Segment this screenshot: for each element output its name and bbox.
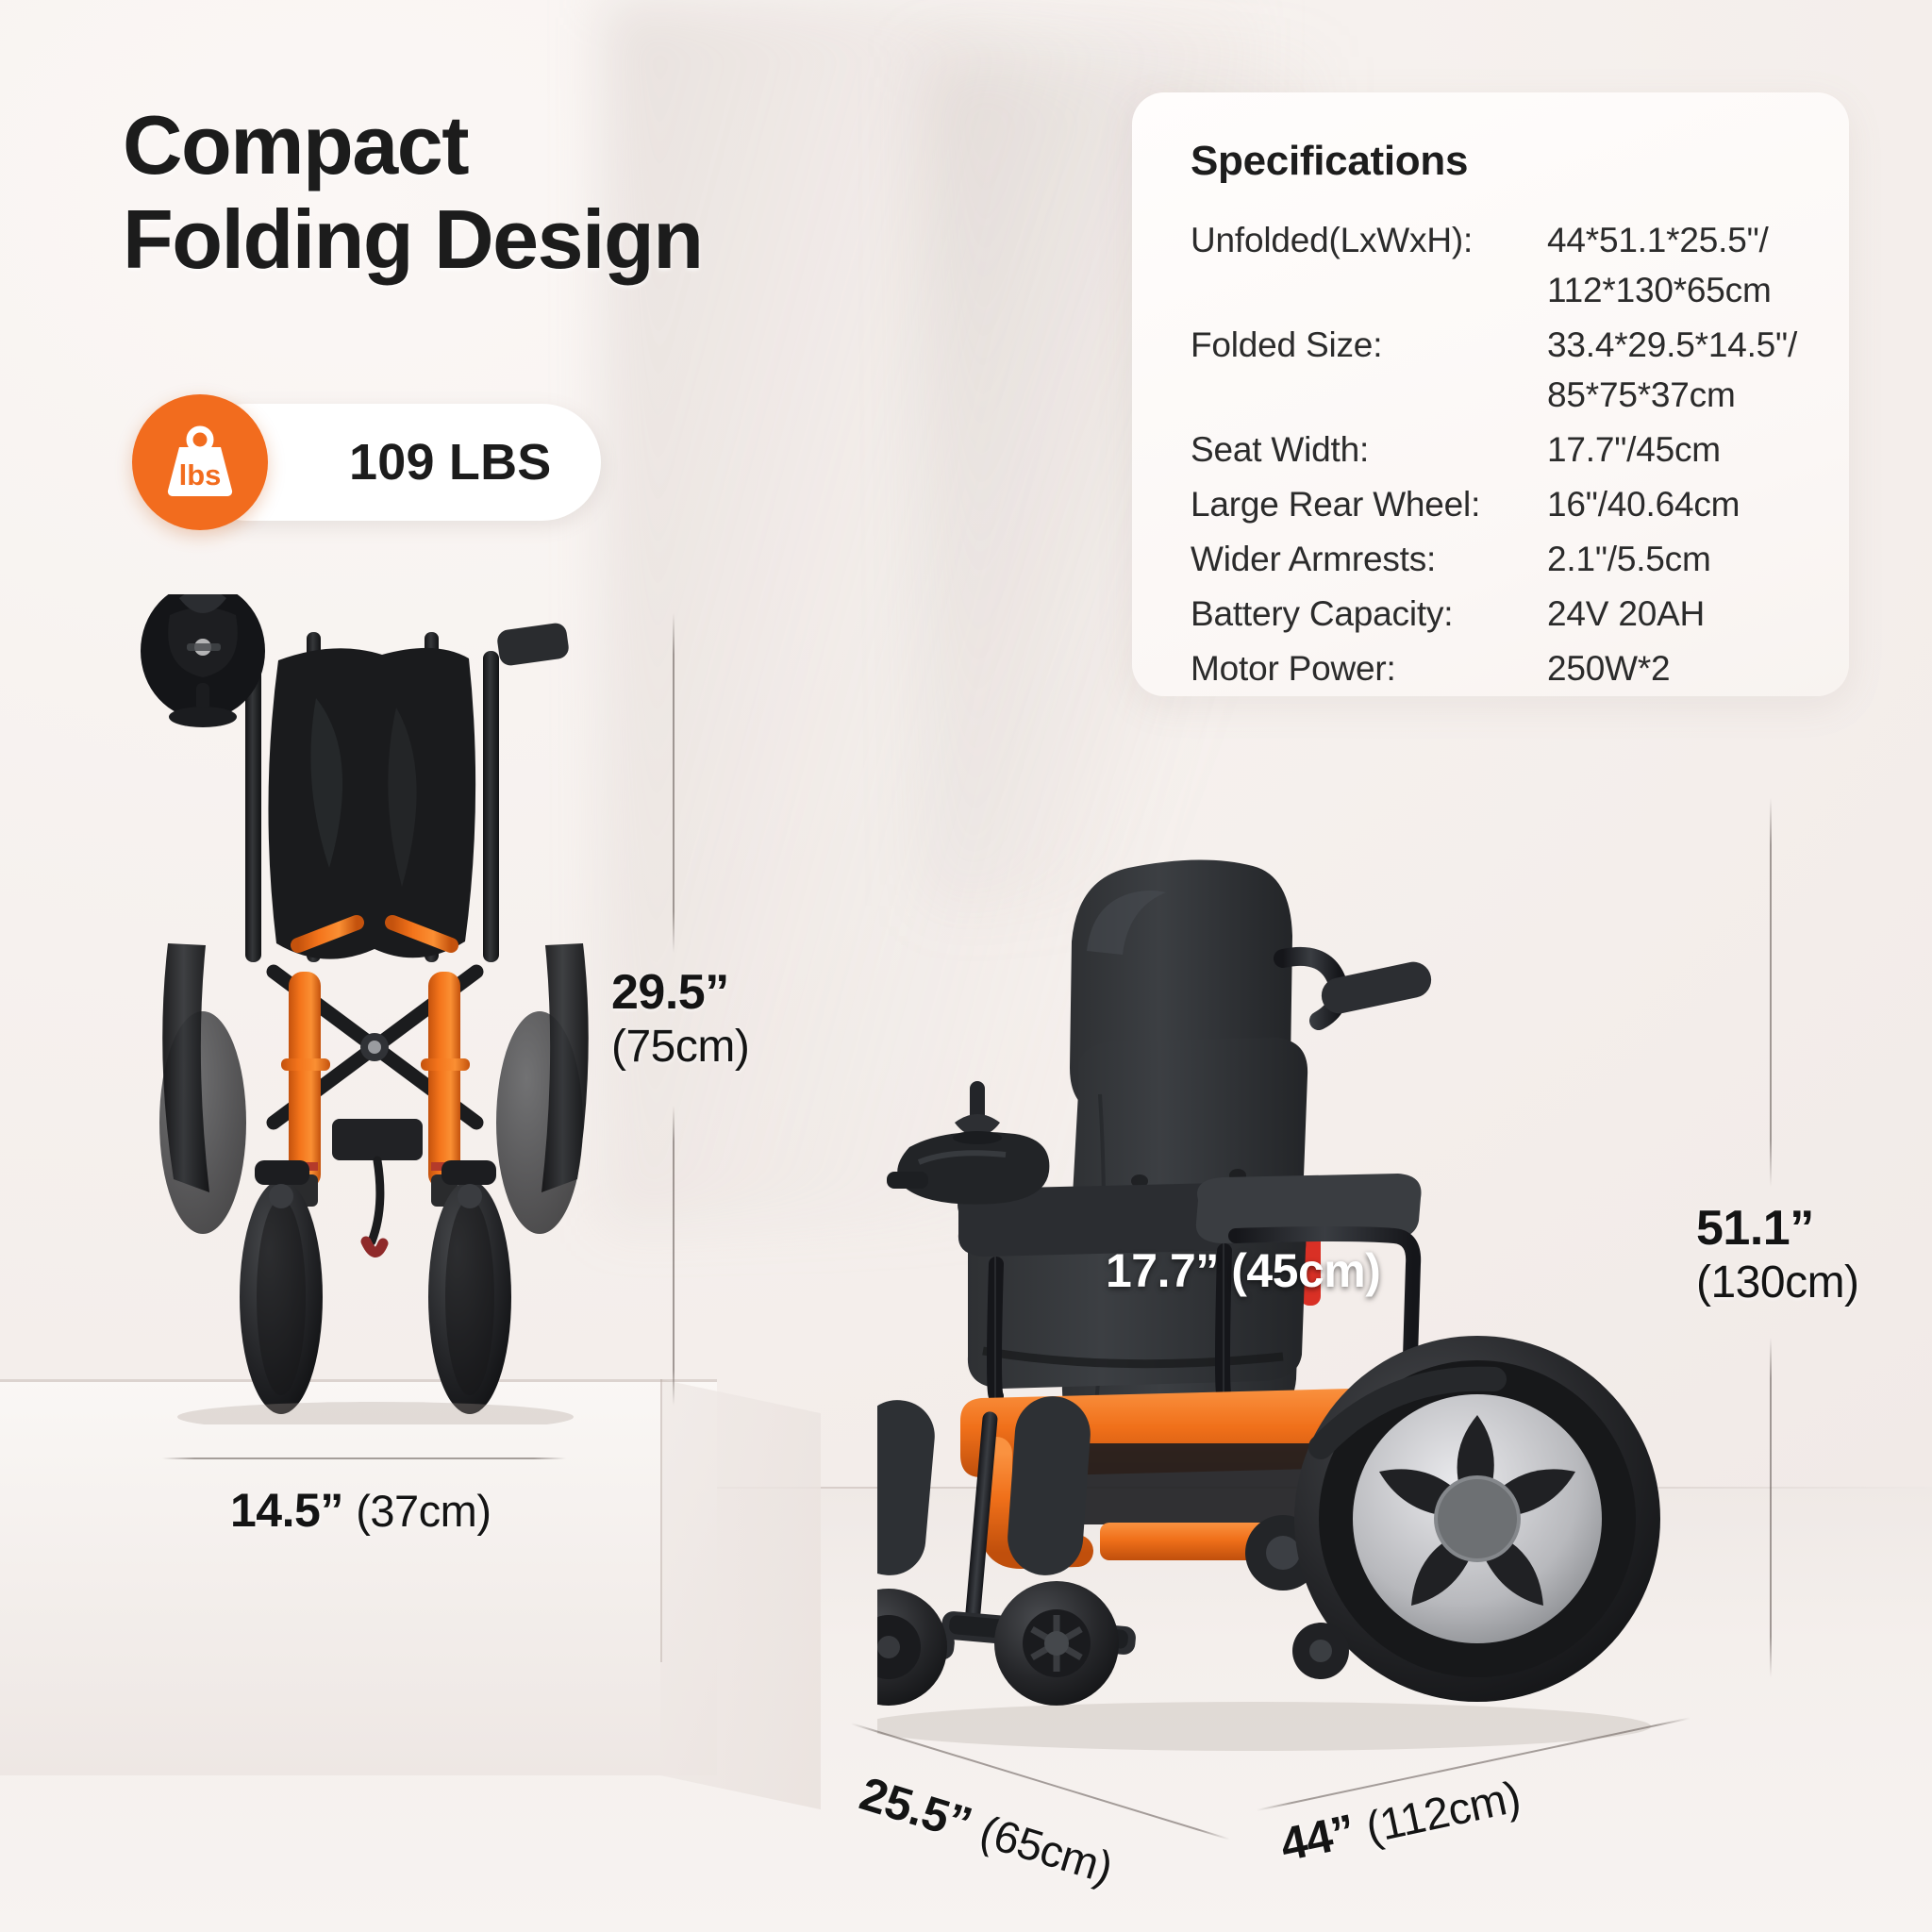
spec-value: 17.7"/45cm [1547, 425, 1721, 475]
folded-electric-wheelchair [113, 594, 641, 1424]
spec-value: 44*51.1*25.5"/ 112*130*65cm [1547, 215, 1772, 315]
spec-label: Folded Size: [1191, 320, 1547, 370]
dim-line-folded-height-top [673, 613, 675, 953]
spec-row: Wider Armrests: 2.1"/5.5cm [1191, 534, 1817, 584]
joystick-controller-icon [887, 1081, 1049, 1205]
spec-label: Battery Capacity: [1191, 589, 1547, 639]
dim-unfolded-height-inch: 51.1” [1696, 1200, 1859, 1257]
dim-line-unfolded-height-bottom [1770, 1338, 1772, 1677]
front-caster-right [994, 1581, 1119, 1706]
dim-folded-height-inch: 29.5” [611, 964, 749, 1021]
dim-label-unfolded-height: 51.1” (130cm) [1696, 1200, 1859, 1308]
dim-line-folded-height-bottom [673, 1106, 675, 1406]
spec-row: Seat Width: 17.7"/45cm [1191, 425, 1817, 475]
spec-label: Wider Armrests: [1191, 534, 1547, 584]
dim-folded-height-cm: (75cm) [611, 1021, 749, 1073]
weight-lbs-icon: lbs [132, 394, 268, 530]
dim-folded-depth-inch: 14.5” [230, 1484, 343, 1537]
front-caster-left [877, 1589, 947, 1706]
spec-row: Battery Capacity: 24V 20AH [1191, 589, 1817, 639]
dim-line-unfolded-height-top [1770, 798, 1772, 1187]
spec-value: 2.1"/5.5cm [1547, 534, 1711, 584]
spec-value: 250W*2 [1547, 643, 1670, 693]
display-pedestal [0, 1379, 717, 1775]
specifications-card: Specifications Unfolded(LxWxH): 44*51.1*… [1132, 92, 1849, 696]
display-pedestal-corner-edge [660, 1379, 662, 1662]
spec-label: Seat Width: [1191, 425, 1547, 475]
spec-value: 16"/40.64cm [1547, 479, 1740, 529]
dim-folded-depth-cm: (37cm) [356, 1486, 491, 1536]
dim-seat-width-text: 17.7” (45cm) [1106, 1244, 1380, 1297]
display-pedestal-side [660, 1379, 821, 1809]
svg-text:lbs: lbs [179, 458, 222, 491]
page-title-line-1: Compact [123, 98, 896, 192]
weight-badge-value: 109 LBS [349, 433, 552, 491]
spec-row: Large Rear Wheel: 16"/40.64cm [1191, 479, 1817, 529]
spec-row: Folded Size: 33.4*29.5*14.5"/ 85*75*37cm [1191, 320, 1817, 420]
spec-row: Unfolded(LxWxH): 44*51.1*25.5"/ 112*130*… [1191, 215, 1817, 315]
page-title-line-2: Folding Design [123, 192, 896, 287]
spec-label: Motor Power: [1191, 643, 1547, 693]
spec-label: Unfolded(LxWxH): [1191, 215, 1547, 265]
dim-unfolded-height-cm: (130cm) [1696, 1257, 1859, 1308]
specifications-list: Unfolded(LxWxH): 44*51.1*25.5"/ 112*130*… [1191, 215, 1817, 698]
specifications-heading: Specifications [1191, 138, 1468, 185]
page-title: Compact Folding Design [123, 98, 896, 288]
dim-label-seat-width: 17.7” (45cm) [1106, 1243, 1380, 1298]
dim-label-folded-height: 29.5” (75cm) [611, 964, 749, 1073]
spec-label: Large Rear Wheel: [1191, 479, 1547, 529]
dim-label-folded-depth: 14.5” (37cm) [230, 1483, 491, 1538]
dim-line-folded-depth [162, 1457, 566, 1459]
spec-row: Motor Power: 250W*2 [1191, 643, 1817, 693]
spec-value: 33.4*29.5*14.5"/ 85*75*37cm [1547, 320, 1797, 420]
spec-value: 24V 20AH [1547, 589, 1705, 639]
